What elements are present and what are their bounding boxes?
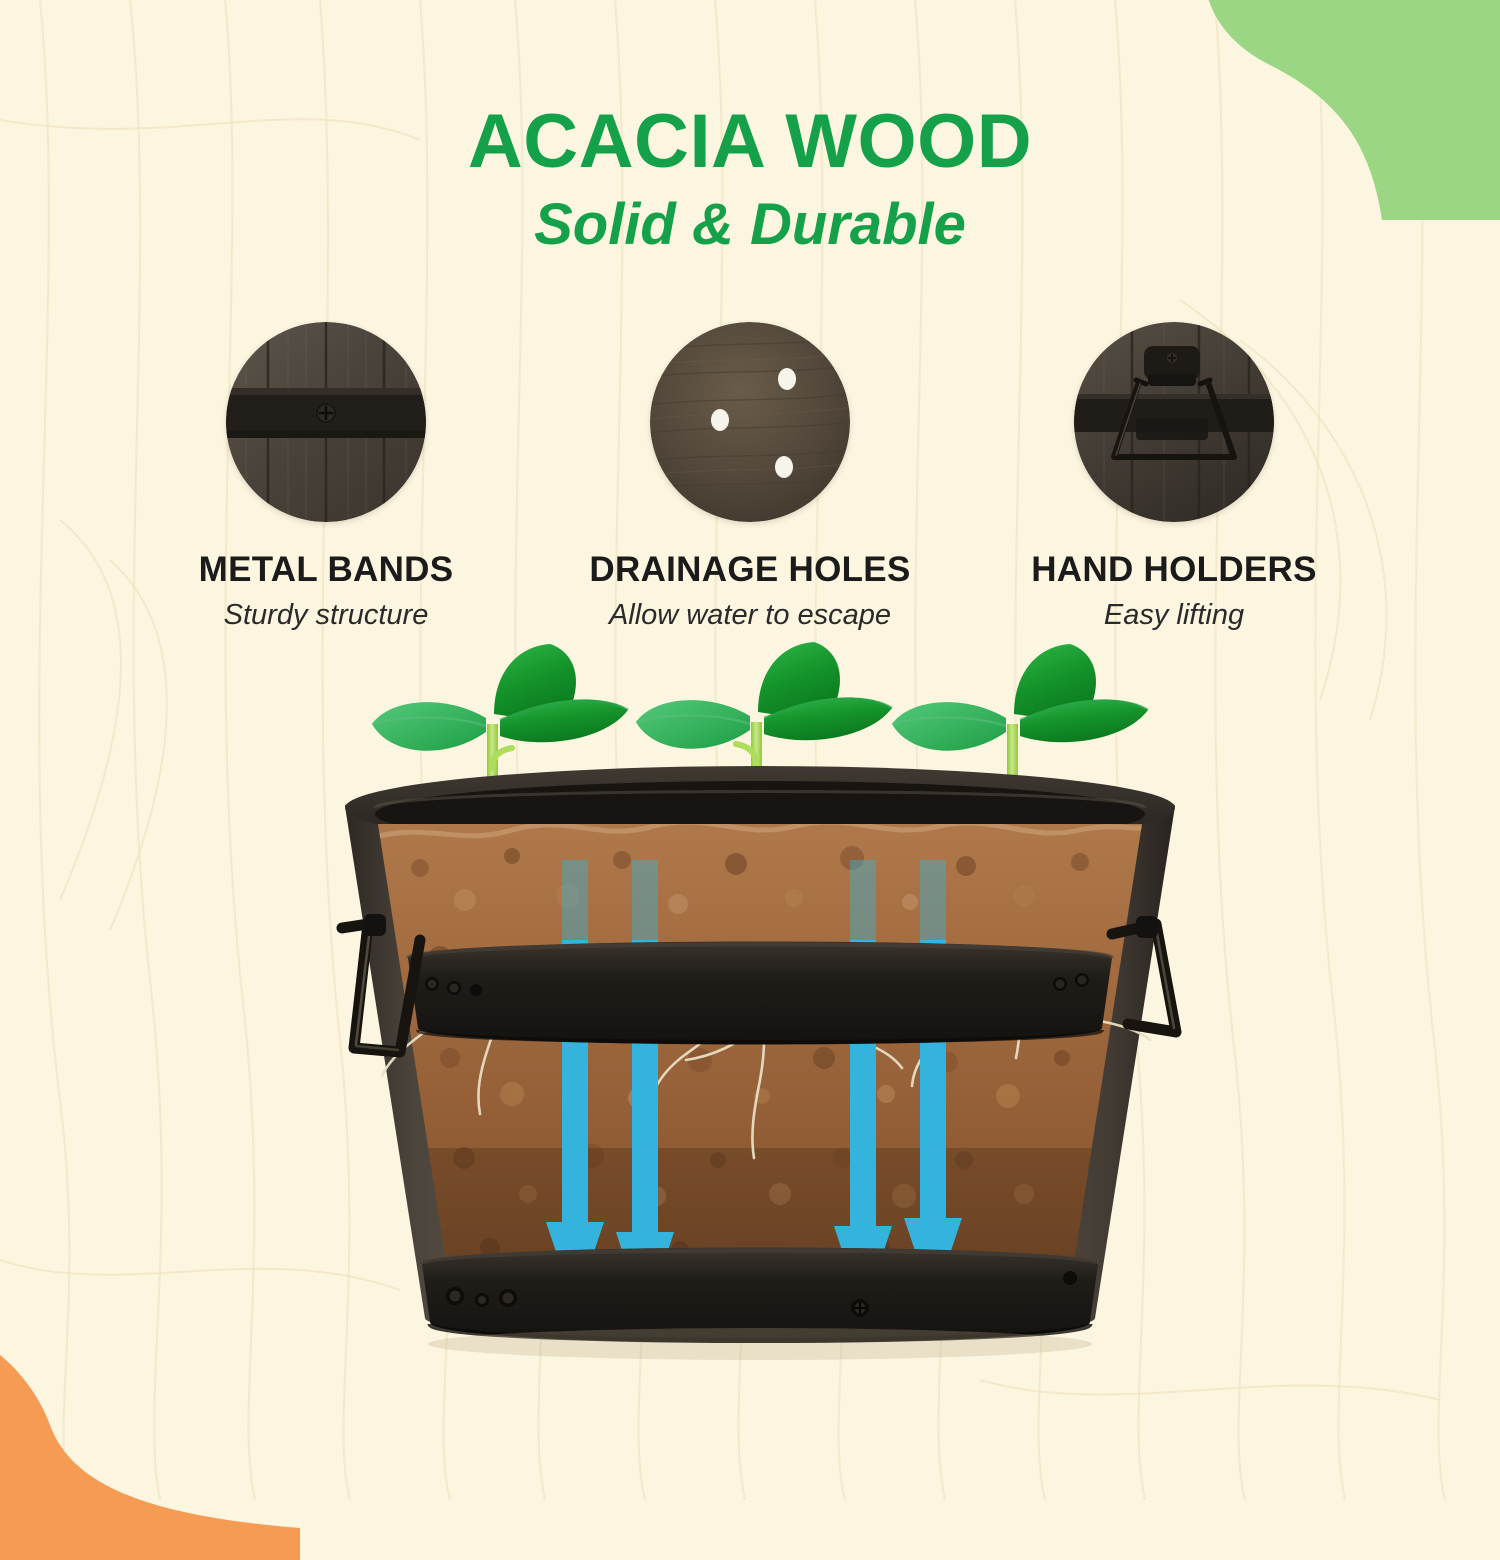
upper-metal-band	[408, 942, 1112, 1045]
header-block: ACACIA WOOD Solid & Durable	[0, 104, 1500, 254]
page-subtitle: Solid & Durable	[0, 196, 1500, 254]
hand-holder-icon	[1074, 322, 1274, 522]
feature-item-hand-holders: HAND HOLDERS Easy lifting	[1056, 322, 1292, 632]
feature-title: HAND HOLDERS	[1031, 550, 1317, 590]
drop-shadow	[428, 1328, 1092, 1360]
feature-title: METAL BANDS	[199, 550, 454, 590]
feature-item-drainage-holes: DRAINAGE HOLES Allow water to escape	[632, 322, 868, 632]
feature-item-metal-bands: METAL BANDS Sturdy structure	[208, 322, 444, 632]
metal-band-icon	[226, 322, 426, 522]
drainage-holes-icon	[650, 322, 850, 522]
feature-subtitle: Allow water to escape	[609, 599, 891, 632]
feature-subtitle: Sturdy structure	[224, 599, 429, 632]
feature-title: DRAINAGE HOLES	[589, 550, 910, 590]
product-illustration-barrel-planter	[250, 628, 1270, 1428]
feature-subtitle: Easy lifting	[1104, 599, 1244, 632]
page-title: ACACIA WOOD	[0, 104, 1500, 180]
feature-list: METAL BANDS Sturdy structure	[0, 322, 1500, 632]
